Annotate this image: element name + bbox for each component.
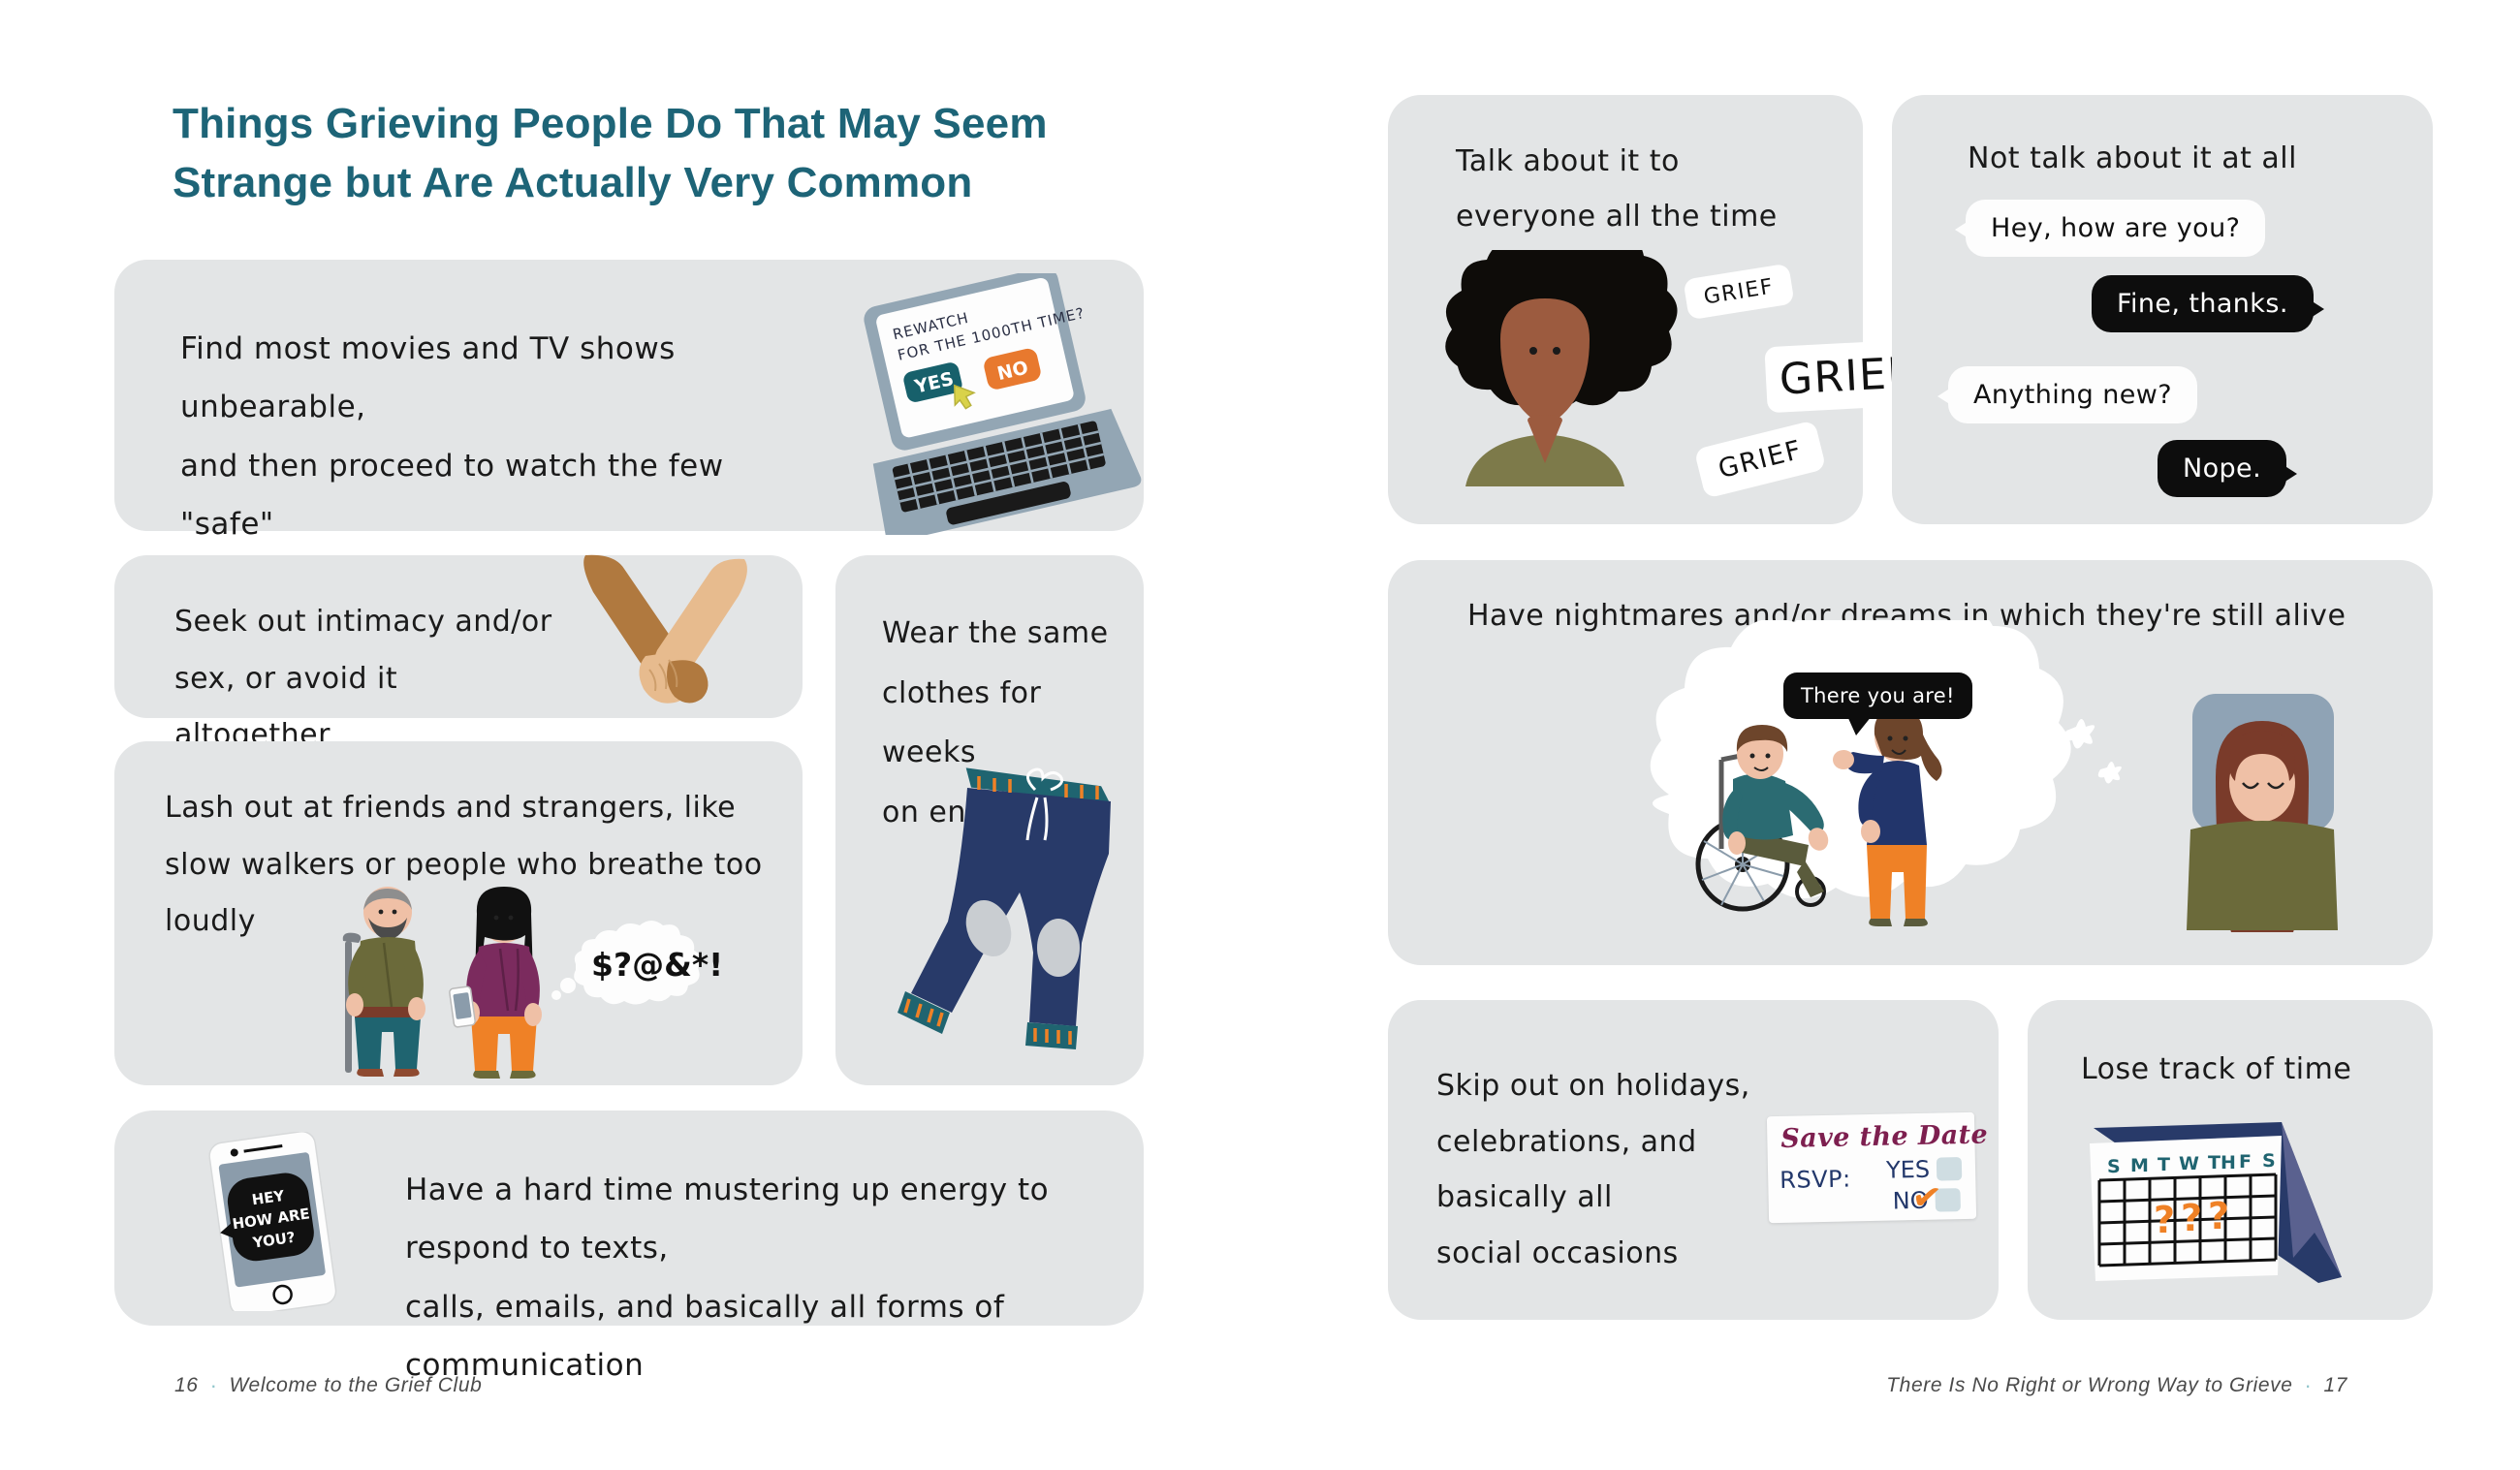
dream-speech-bubble: There you are! [1783,672,1972,719]
desk-calendar-icon: SMT WTHFS ??? [2074,1116,2365,1291]
svg-text:?: ? [2181,1197,2202,1239]
card-lose-track-of-time: Lose track of time SMT WTHFS ?? [2028,1000,2433,1320]
card-seek-out-intimacy: Seek out intimacy and/or sex, or avoid i… [114,555,803,718]
laptop-icon: REWATCH FOR THE 1000TH TIME? YES NO [830,273,1150,535]
svg-text:M: M [2130,1155,2149,1176]
chat-bubble-outgoing-1: Fine, thanks. [2092,275,2314,332]
footer-left-chapter: Welcome to the Grief Club [230,1374,483,1397]
card-communication-text: Have a hard time mustering up energy to … [405,1161,1103,1395]
chat-bubble-outgoing-2: Nope. [2158,440,2286,497]
card-intimacy-text: Seek out intimacy and/or sex, or avoid i… [174,594,562,765]
footer-right-chapter: There Is No Right or Wrong Way to Grieve [1886,1374,2292,1397]
svg-text:F: F [2239,1151,2252,1173]
rsvp-yes-checkbox[interactable] [1937,1157,1962,1181]
card-nightmares: Have nightmares and/or dreams in which t… [1388,560,2433,965]
svg-text:TH: TH [2208,1152,2236,1173]
card-skip-social-occasions: Skip out on holidays, celebrations, and … [1388,1000,1999,1320]
svg-text:W: W [2179,1153,2199,1174]
holding-hands-icon [572,547,756,717]
check-icon: ✔ [1910,1179,1943,1217]
svg-text:?: ? [2154,1199,2175,1241]
card-talk-text: Talk about it to everyone all the time [1456,134,1824,244]
svg-text:S: S [2262,1150,2276,1172]
card-lash-out: Lash out at friends and strangers, like … [114,741,803,1085]
rsvp-label: RSVP: [1780,1165,1851,1194]
save-the-date-heading: Save the Date [1780,1119,1988,1153]
svg-text:?: ? [2208,1195,2229,1237]
woman-with-afro-icon: GRIEF GRIEF GRIEF [1407,250,1843,516]
footer-right-page-number: 17 [2323,1374,2347,1397]
page-title: Things Grieving People Do That May Seem … [173,95,1161,212]
chat-bubble-incoming-1: Hey, how are you? [1966,200,2265,257]
card-lose-text: Lose track of time [2081,1047,2410,1094]
save-the-date-card-icon: Save the Date RSVP: YES NO ✔ [1767,1112,1976,1223]
dream-cloud-icon: There you are! [1553,620,2425,940]
swear-bubble-text: $?@&*! [591,946,723,984]
footer-right: There Is No Right or Wrong Way to Grieve… [1886,1374,2347,1397]
card-communication: Have a hard time mustering up energy to … [114,1110,1144,1326]
card-wear-same-clothes: Wear the same clothes for weeks on end [835,555,1144,1085]
chat-bubble-incoming-2: Anything new? [1948,366,2197,423]
card-nottalk-text: Not talk about it at all [1968,136,2394,183]
footer-left: 16 · Welcome to the Grief Club [174,1374,482,1397]
svg-text:T: T [2158,1154,2170,1175]
footer-right-separator: · [2305,1375,2313,1396]
book-spread: Things Grieving People Do That May Seem … [0,0,2520,1470]
svg-text:S: S [2107,1156,2121,1177]
footer-left-page-number: 16 [174,1374,199,1397]
card-talk-about-it: Talk about it to everyone all the time G… [1388,95,1863,524]
card-find-movies-unbearable: Find most movies and TV shows unbearable… [114,260,1144,531]
smartphone-icon: HEY HOW ARE YOU? [190,1132,364,1311]
two-pedestrians-icon: $?@&*! [299,887,764,1080]
sweatpants-icon [882,749,1132,1069]
footer-left-separator: · [210,1375,218,1396]
card-skip-text: Skip out on holidays, celebrations, and … [1436,1058,1756,1281]
card-not-talk-about-it: Not talk about it at all Hey, how are yo… [1892,95,2433,524]
